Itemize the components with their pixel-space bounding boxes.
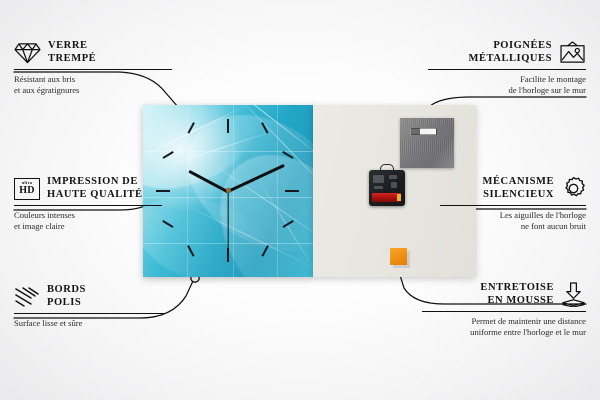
callout-description: Résistant aux bris et aux égratignures xyxy=(14,74,174,95)
callout-bords-polis: BORDS POLIS Surface lisse et sûre xyxy=(14,284,166,329)
hanger-slot xyxy=(410,128,437,135)
hd-badge-large-label: HD xyxy=(19,186,34,196)
gear-icon xyxy=(561,176,586,201)
callout-poignees-metalliques: POIGNÉES MÉTALLIQUES Facilite le montage… xyxy=(426,40,586,95)
diamond-icon xyxy=(14,42,41,64)
callout-entretoise-en-mousse: ENTRETOISE EN MOUSSE Permet de maintenir… xyxy=(420,282,586,337)
battery-terminal xyxy=(397,194,401,201)
callout-divider xyxy=(440,205,586,206)
wall-hanger-icon xyxy=(559,41,586,64)
infographic-canvas: VERRE TREMPÉ Résistant aux bris et aux é… xyxy=(0,0,600,400)
callout-description: Couleurs intenses et image claire xyxy=(14,210,164,231)
callout-title: IMPRESSION DE HAUTE QUALITÉ xyxy=(47,176,143,201)
polished-edges-icon xyxy=(14,286,40,308)
callout-divider xyxy=(14,313,164,314)
mechanism-hanging-loop xyxy=(380,164,394,172)
pile xyxy=(372,193,401,202)
spacer-arrow-icon xyxy=(561,282,586,307)
clock-second-hand xyxy=(227,191,228,255)
callout-description: Facilite le montage de l'horloge sur le … xyxy=(426,74,586,95)
callout-title: MÉCANISME SILENCIEUX xyxy=(483,176,554,201)
callout-title: BORDS POLIS xyxy=(47,284,86,309)
plaque-de-suspension-metallique xyxy=(400,118,454,168)
callout-title: POIGNÉES MÉTALLIQUES xyxy=(469,40,552,65)
ultra-hd-icon: ultra HD xyxy=(14,178,40,200)
callout-divider xyxy=(428,69,586,70)
callout-description: Permet de maintenir une distance uniform… xyxy=(420,316,586,337)
callout-divider xyxy=(14,69,172,70)
callout-description: Les aiguilles de l'horloge ne font aucun… xyxy=(438,210,586,231)
mecanisme-horloge xyxy=(369,170,405,206)
callout-description: Surface lisse et sûre xyxy=(14,318,166,328)
callout-divider xyxy=(14,205,162,206)
callout-verre-trempe: VERRE TREMPÉ Résistant aux bris et aux é… xyxy=(14,40,174,95)
callout-title: ENTRETOISE EN MOUSSE xyxy=(480,282,554,307)
entretoise-en-mousse xyxy=(390,248,407,265)
callout-title: VERRE TREMPÉ xyxy=(48,40,96,65)
horloge-murale-verre xyxy=(143,105,313,277)
clock-center-hub xyxy=(226,188,231,193)
callout-impression-haute-qualite: ultra HD IMPRESSION DE HAUTE QUALITÉ Cou… xyxy=(14,176,164,231)
callout-mecanisme-silencieux: MÉCANISME SILENCIEUX Les aiguilles de l'… xyxy=(438,176,586,231)
callout-divider xyxy=(422,311,586,312)
